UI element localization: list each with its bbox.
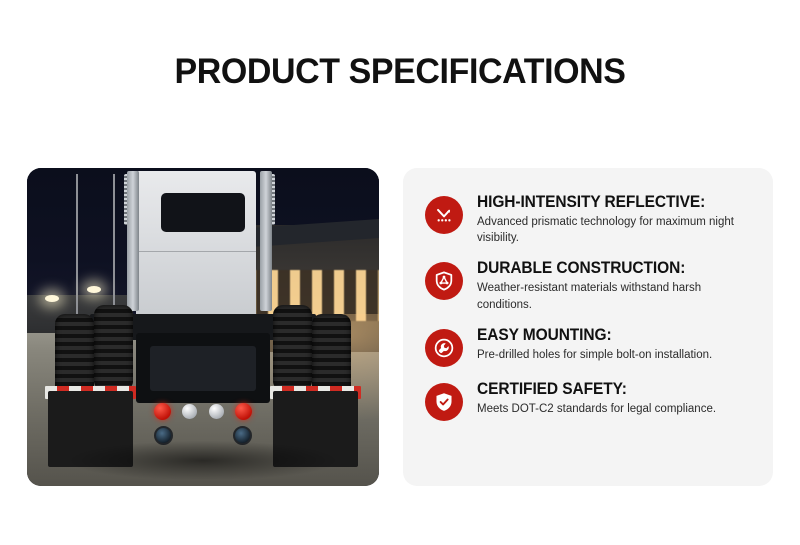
feature-title: EASY MOUNTING: <box>477 327 727 345</box>
tail-lamp-red <box>154 403 171 420</box>
feature-text: EASY MOUNTING: Pre-drilled holes for sim… <box>477 327 743 363</box>
feature-item-high-intensity-reflective: HIGH-INTENSITY REFLECTIVE: Advanced pris… <box>425 194 743 246</box>
feature-description: Meets DOT-C2 standards for legal complia… <box>477 401 743 417</box>
cab-panel-seam <box>136 251 256 252</box>
rear-light-bar <box>143 400 263 422</box>
exhaust-stack <box>127 171 139 311</box>
shield-check-icon <box>425 383 463 421</box>
shield-molecule-icon <box>425 262 463 300</box>
frame-crossmember <box>150 346 256 391</box>
feature-description: Advanced prismatic technology for maximu… <box>477 214 743 247</box>
yard-lamp <box>45 295 59 302</box>
tail-lamp-red <box>235 403 252 420</box>
feature-item-easy-mounting: EASY MOUNTING: Pre-drilled holes for sim… <box>425 327 743 367</box>
ground-shadow <box>69 441 337 479</box>
feature-item-certified-safety: CERTIFIED SAFETY: Meets DOT-C2 standards… <box>425 381 743 421</box>
feature-text: DURABLE CONSTRUCTION: Weather-resistant … <box>477 260 743 312</box>
truck-tire <box>273 305 312 391</box>
light-pole <box>113 174 115 314</box>
page-title: PRODUCT SPECIFICATIONS <box>12 52 788 92</box>
feature-text: HIGH-INTENSITY REFLECTIVE: Advanced pris… <box>477 194 743 246</box>
reverse-lamp-white <box>209 404 224 419</box>
feature-text: CERTIFIED SAFETY: Meets DOT-C2 standards… <box>477 381 743 417</box>
feature-item-durable-construction: DURABLE CONSTRUCTION: Weather-resistant … <box>425 260 743 312</box>
content-row: HIGH-INTENSITY REFLECTIVE: Advanced pris… <box>27 168 773 486</box>
wrench-icon <box>425 329 463 367</box>
feature-title: HIGH-INTENSITY REFLECTIVE: <box>477 194 727 212</box>
yard-lamp <box>87 286 101 293</box>
light-pole <box>76 174 78 320</box>
cab-window <box>161 193 245 231</box>
feature-title: DURABLE CONSTRUCTION: <box>477 260 727 278</box>
feature-description: Weather-resistant materials withstand ha… <box>477 280 743 313</box>
feature-title: CERTIFIED SAFETY: <box>477 381 727 399</box>
feature-description: Pre-drilled holes for simple bolt-on ins… <box>477 347 743 363</box>
exhaust-stack <box>260 171 272 311</box>
reflective-rays-icon <box>425 196 463 234</box>
product-specifications-page: PRODUCT SPECIFICATIONS <box>0 0 800 545</box>
product-photo-card <box>27 168 379 486</box>
reverse-lamp-white <box>182 404 197 419</box>
truck-rear-photo <box>27 168 379 486</box>
truck-tire <box>94 305 133 391</box>
features-panel: HIGH-INTENSITY REFLECTIVE: Advanced pris… <box>403 168 773 486</box>
